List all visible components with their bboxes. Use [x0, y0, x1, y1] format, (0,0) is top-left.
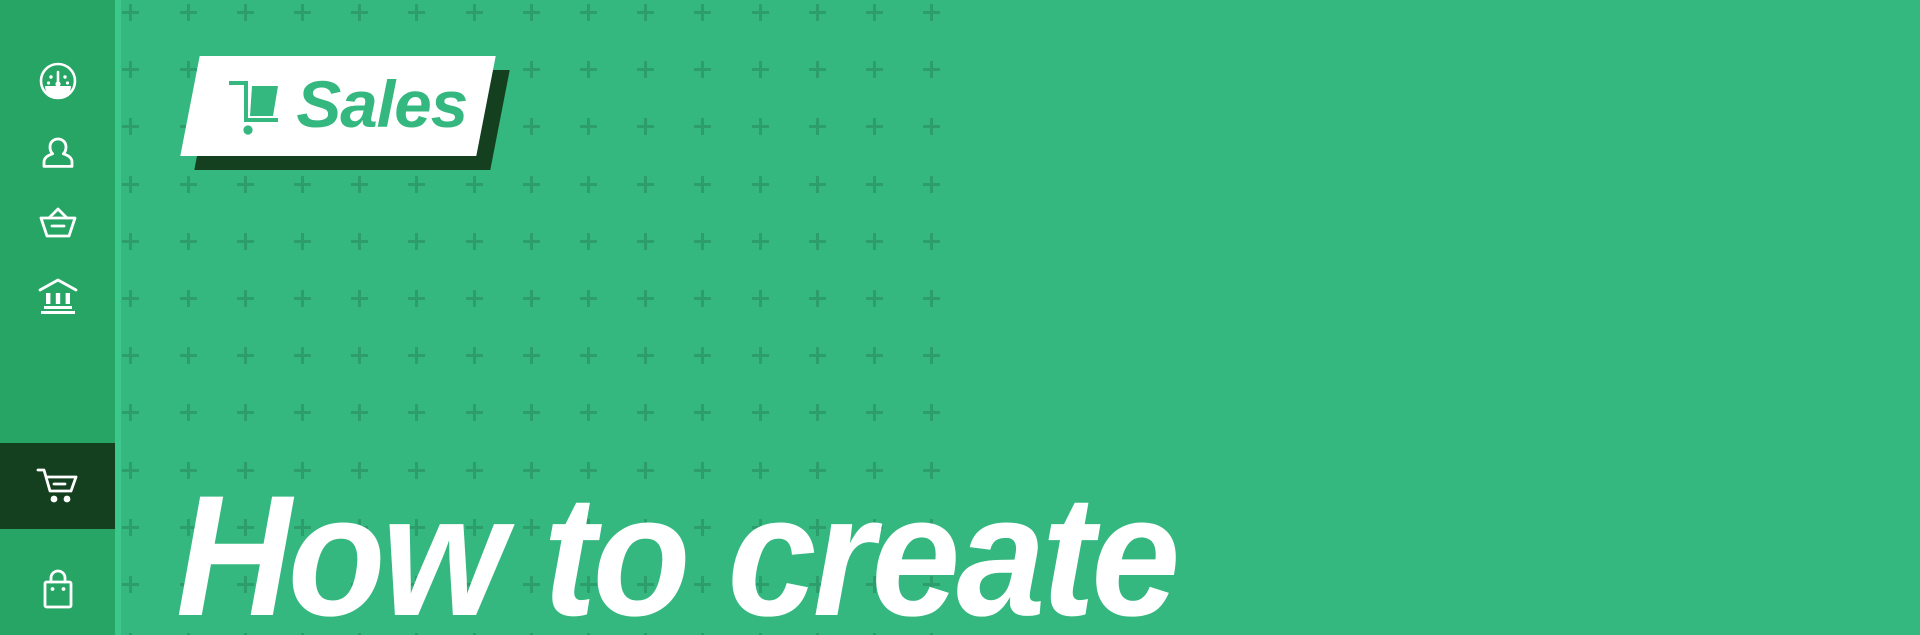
plus-mark: [694, 4, 711, 21]
hand-truck-icon: [226, 72, 284, 141]
plus-mark: [809, 61, 826, 78]
plus-mark: [923, 4, 940, 21]
plus-mark: [752, 4, 769, 21]
plus-mark: [122, 233, 139, 250]
sidebar-item-banking[interactable]: [0, 254, 115, 340]
sidebar-edge: [115, 0, 121, 635]
plus-mark: [866, 61, 883, 78]
plus-mark: [122, 404, 139, 421]
sidebar: [0, 0, 115, 635]
plus-mark: [637, 61, 654, 78]
page-title: How to create an estimate: [176, 176, 1292, 635]
shopping-bag-icon: [38, 568, 78, 615]
badge-label: Sales: [296, 71, 467, 137]
plus-mark: [809, 4, 826, 21]
plus-mark: [122, 576, 139, 593]
plus-mark: [694, 61, 711, 78]
plus-mark: [580, 61, 597, 78]
plus-mark: [122, 61, 139, 78]
plus-mark: [637, 118, 654, 135]
plus-mark: [294, 4, 311, 21]
plus-mark: [351, 4, 368, 21]
plus-mark: [408, 4, 425, 21]
plus-mark: [523, 61, 540, 78]
basket-icon: [37, 203, 79, 248]
plus-mark: [752, 118, 769, 135]
plus-mark: [122, 176, 139, 193]
plus-mark: [122, 347, 139, 364]
plus-mark: [122, 462, 139, 479]
plus-mark: [923, 61, 940, 78]
sales-banner: Sales How to create an estimate: [0, 0, 1920, 635]
plus-mark: [122, 4, 139, 21]
plus-mark: [523, 4, 540, 21]
plus-mark: [866, 4, 883, 21]
plus-mark: [752, 61, 769, 78]
bank-icon: [36, 275, 80, 320]
plus-mark: [237, 4, 254, 21]
sidebar-item-sales[interactable]: [0, 443, 115, 529]
plus-mark: [637, 4, 654, 21]
plus-mark: [122, 118, 139, 135]
plus-mark: [523, 118, 540, 135]
plus-mark: [122, 519, 139, 536]
plus-mark: [866, 118, 883, 135]
plus-mark: [580, 4, 597, 21]
plus-mark: [580, 118, 597, 135]
plus-mark: [923, 118, 940, 135]
category-badge: Sales: [190, 56, 486, 156]
dashboard-gauge-icon: [38, 61, 78, 106]
shopping-cart-icon: [35, 464, 81, 509]
plus-mark: [122, 290, 139, 307]
person-icon: [38, 133, 78, 178]
headline-line-1: How to create: [176, 480, 1292, 632]
plus-mark: [180, 4, 197, 21]
plus-mark: [466, 4, 483, 21]
plus-mark: [809, 118, 826, 135]
plus-mark: [694, 118, 711, 135]
sidebar-item-purchases[interactable]: [0, 548, 115, 634]
